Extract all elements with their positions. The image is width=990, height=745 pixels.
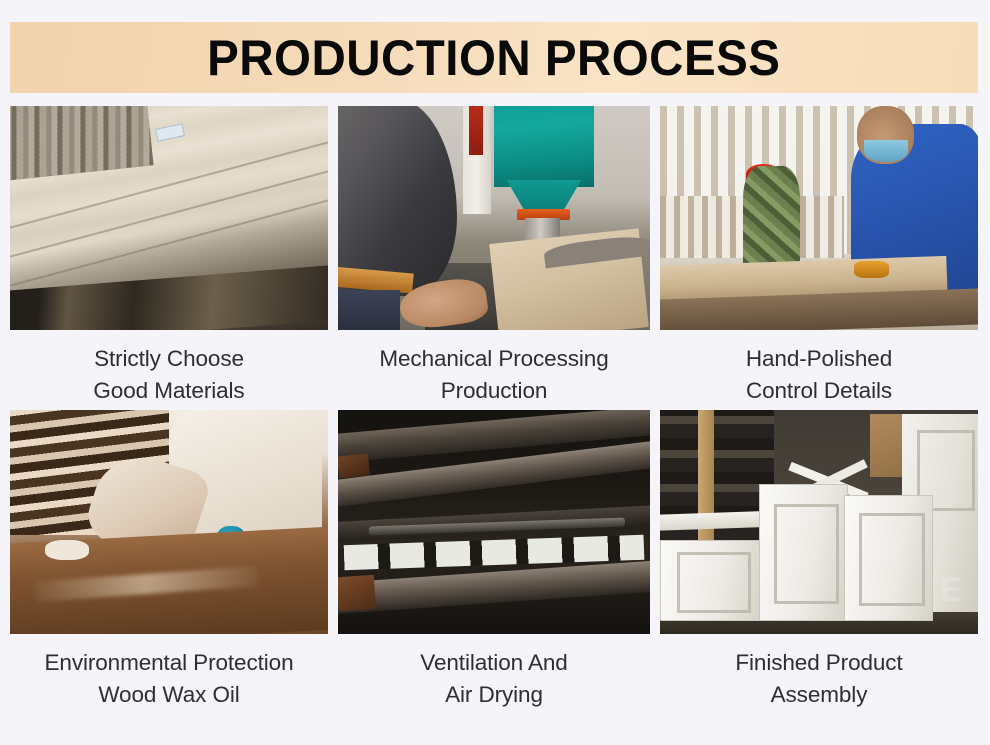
step-1-caption: Strictly Choose Good Materials bbox=[93, 343, 244, 408]
process-step-4: Environmental Protection Wood Wax Oil bbox=[10, 410, 328, 712]
worker-at-drill-press-photo bbox=[338, 106, 650, 330]
header-banner: PRODUCTION PROCESS bbox=[10, 22, 978, 93]
white-cabinet-assembly-photo: YM FURNITURE bbox=[660, 410, 978, 634]
workers-sanding-wood-photo: URE bbox=[660, 106, 978, 330]
step-5-caption: Ventilation And Air Drying bbox=[420, 647, 567, 712]
process-step-3: URE Hand-Polished Control Details bbox=[660, 106, 978, 408]
step-6-caption: Finished Product Assembly bbox=[735, 647, 902, 712]
process-steps-grid: Strictly Choose Good Materials Mechanica… bbox=[10, 106, 978, 731]
step-3-caption: Hand-Polished Control Details bbox=[746, 343, 892, 408]
process-step-6: YM FURNITURE Finished Product Assembly bbox=[660, 410, 978, 712]
process-step-1: Strictly Choose Good Materials bbox=[10, 106, 328, 408]
step-4-caption: Environmental Protection Wood Wax Oil bbox=[45, 647, 294, 712]
step-2-caption: Mechanical Processing Production bbox=[379, 343, 608, 408]
applying-wax-oil-photo bbox=[10, 410, 328, 634]
process-step-2: Mechanical Processing Production bbox=[336, 106, 652, 408]
page-title: PRODUCTION PROCESS bbox=[207, 33, 780, 83]
drying-rack-planks-photo bbox=[338, 410, 650, 634]
stacked-light-wood-planks-photo bbox=[10, 106, 328, 330]
production-process-infographic: PRODUCTION PROCESS Strictly Choose Good … bbox=[0, 0, 990, 745]
process-step-5: Ventilation And Air Drying bbox=[336, 410, 652, 712]
paper-tag-icon bbox=[155, 123, 185, 142]
